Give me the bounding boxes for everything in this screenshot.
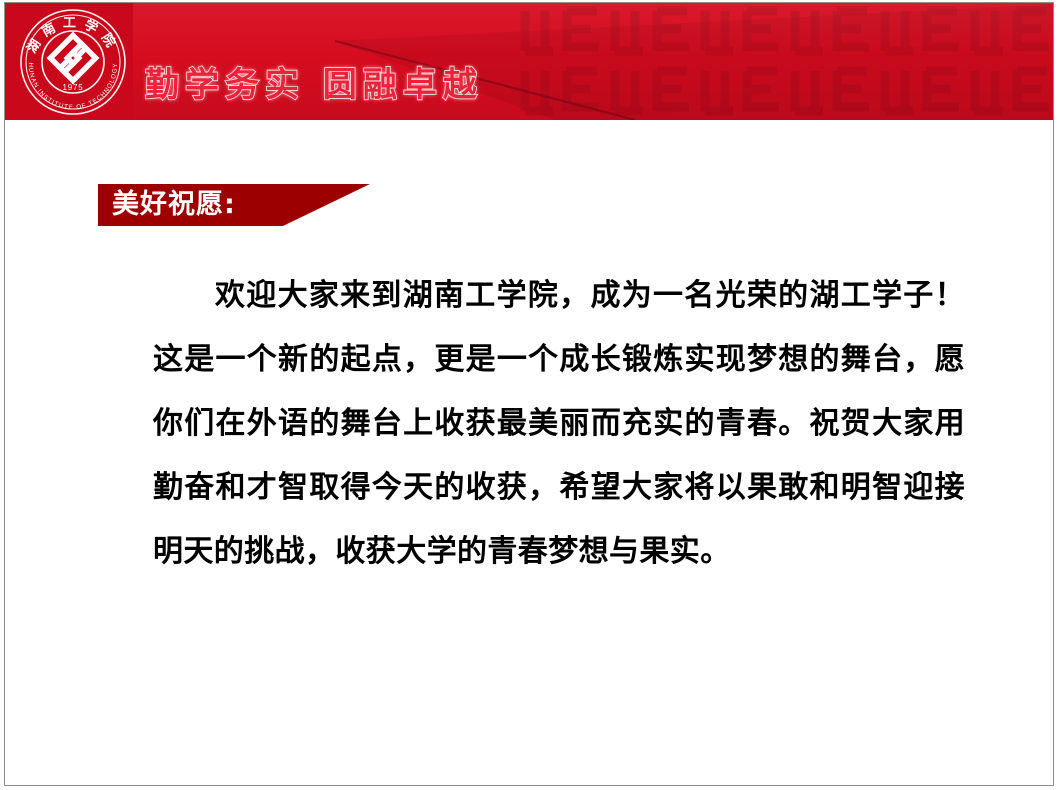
slide-body-paragraph: 欢迎大家来到湖南工学院，成为一名光荣的湖工学子！这是一个新的起点，更是一个成长锻…	[153, 264, 965, 584]
university-motto: 勤学务实 圆融卓越	[145, 61, 435, 109]
slide-content-area: 美好祝愿: 欢迎大家来到湖南工学院，成为一名光荣的湖工学子！这是一个新的起点，更…	[5, 120, 1053, 785]
university-motto-text: 勤学务实 圆融卓越	[145, 61, 435, 109]
section-title-label: 美好祝愿:	[112, 184, 236, 226]
hunan-institute-of-technology-crest-icon: 湖南工学院 HUNAN INSTITUTE OF TECHNOLOGY 1975	[17, 7, 129, 117]
slide-header-band: 湖南工学院 HUNAN INSTITUTE OF TECHNOLOGY 1975…	[5, 3, 1053, 120]
section-title-banner: 美好祝愿:	[98, 184, 370, 226]
presentation-slide: 湖南工学院 HUNAN INSTITUTE OF TECHNOLOGY 1975…	[4, 2, 1054, 786]
header-watermark-pattern	[515, 3, 1053, 120]
